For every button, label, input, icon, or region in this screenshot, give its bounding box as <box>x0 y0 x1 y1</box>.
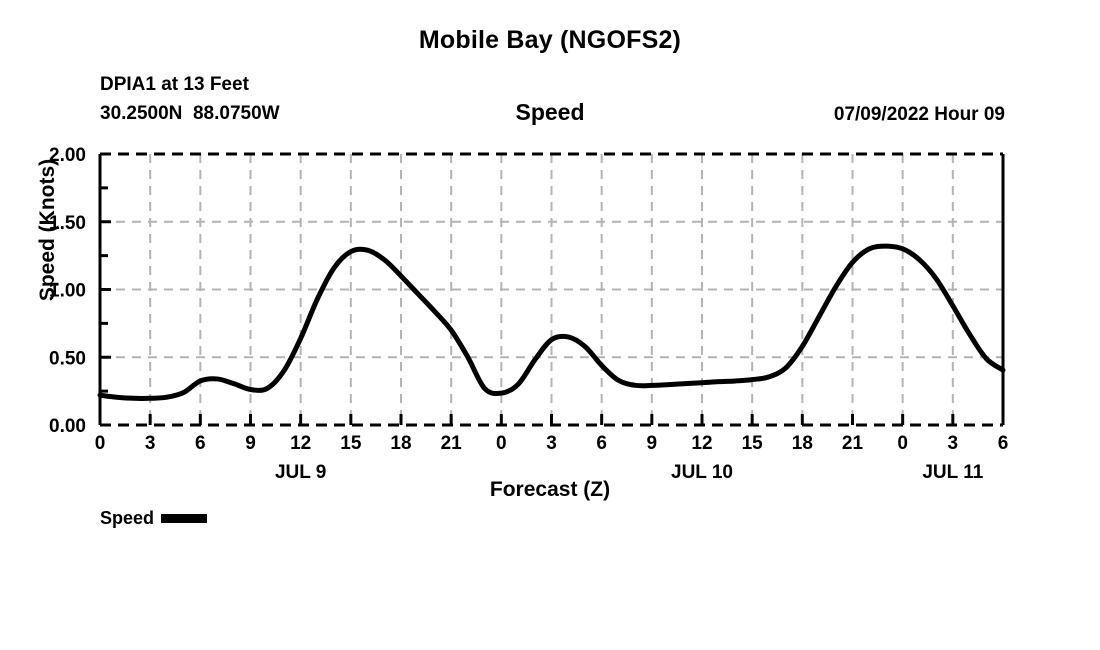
x-axis-tick-label: 0 <box>897 433 908 454</box>
x-axis-tick-label: 6 <box>998 433 1009 454</box>
x-axis-day-label: JUL 11 <box>922 462 983 483</box>
x-axis-tick-label: 15 <box>340 433 362 454</box>
y-axis-tick-label: 2.00 <box>49 145 86 166</box>
x-axis-tick-label: 6 <box>596 433 607 454</box>
x-axis-tick-label: 21 <box>842 433 864 454</box>
y-axis-tick-label: 0.50 <box>49 348 86 369</box>
legend-label-speed: Speed <box>100 508 154 529</box>
x-axis-tick-label: 3 <box>546 433 557 454</box>
x-axis-tick-label: 3 <box>145 433 156 454</box>
x-axis-tick-label: 18 <box>792 433 813 454</box>
x-axis-tick-label: 0 <box>496 433 507 454</box>
x-axis-tick-label: 3 <box>948 433 959 454</box>
speed-forecast-chart: 0.000.501.001.502.0003691215182103691215… <box>0 0 1100 650</box>
x-axis-day-label: JUL 10 <box>671 462 733 483</box>
chart-legend: Speed <box>100 508 207 529</box>
x-axis-tick-label: 9 <box>647 433 658 454</box>
x-axis-tick-label: 18 <box>390 433 411 454</box>
x-axis-tick-label: 15 <box>742 433 764 454</box>
x-axis-tick-label: 6 <box>195 433 206 454</box>
x-axis-tick-label: 12 <box>691 433 712 454</box>
legend-swatch-speed <box>161 514 207 523</box>
x-axis-tick-label: 12 <box>290 433 311 454</box>
y-axis-tick-label: 1.00 <box>49 281 86 302</box>
x-axis-tick-label: 0 <box>95 433 106 454</box>
y-axis-tick-label: 1.50 <box>49 213 86 234</box>
x-axis-tick-label: 9 <box>245 433 256 454</box>
x-axis-day-label: JUL 9 <box>275 462 326 483</box>
x-axis-tick-label: 21 <box>441 433 463 454</box>
y-axis-tick-label: 0.00 <box>49 416 86 437</box>
